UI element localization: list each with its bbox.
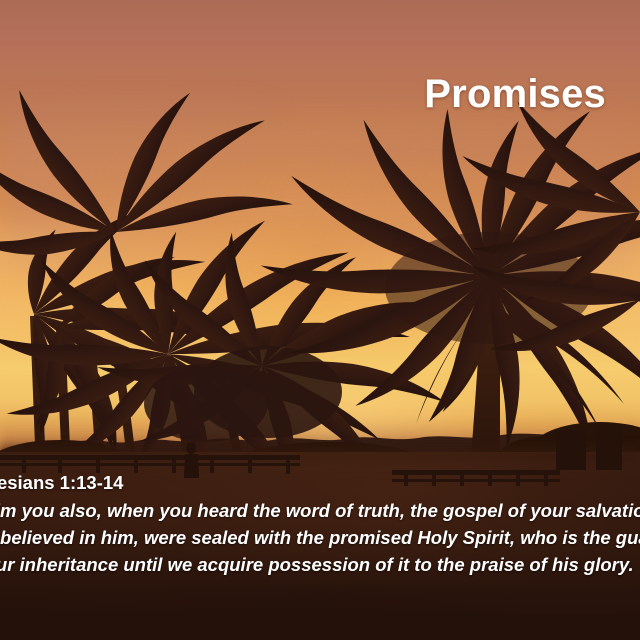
presentation-slide: Promises Ephesians 1:13-14 In him you al… bbox=[0, 0, 640, 640]
verse-line: of our inheritance until we acquire poss… bbox=[0, 551, 640, 578]
verse-line: and believed in him, were sealed with th… bbox=[0, 524, 640, 551]
verse-line: In him you also, when you heard the word… bbox=[0, 497, 640, 524]
scripture-reference: Ephesians 1:13-14 bbox=[0, 470, 640, 497]
scripture-verse-text: In him you also, when you heard the word… bbox=[0, 497, 640, 579]
slide-title: Promises bbox=[0, 72, 606, 117]
scripture-block: Ephesians 1:13-14 In him you also, when … bbox=[0, 470, 640, 578]
